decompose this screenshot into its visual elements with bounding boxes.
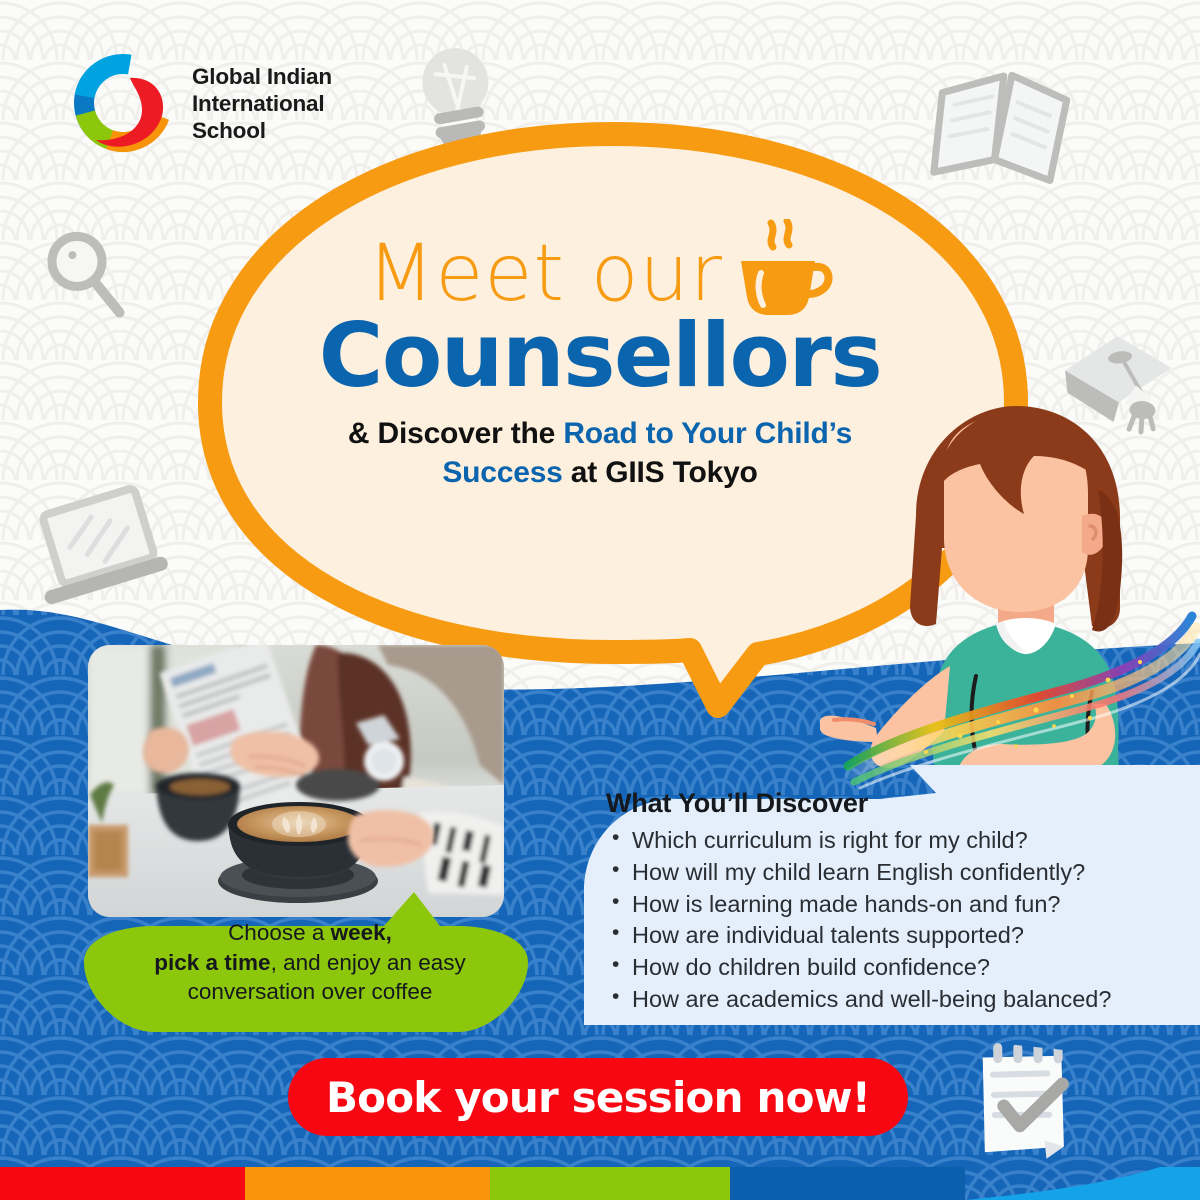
- brand-name-line2: International: [192, 90, 332, 117]
- list-item: How do children build confidence?: [606, 952, 1186, 984]
- discover-list: Which curriculum is right for my child? …: [606, 825, 1186, 1016]
- subhead-part1: & Discover the: [348, 417, 563, 450]
- footer-segment-orange: [245, 1167, 490, 1200]
- list-item: How are individual talents supported?: [606, 920, 1186, 952]
- green-text-3: conversation over coffee: [188, 979, 433, 1004]
- subhead-highlight1: Road to Your Child’s: [563, 417, 852, 450]
- green-callout-text: Choose a week, pick a time, and enjoy an…: [100, 918, 520, 1007]
- footer-segment-red: [0, 1167, 245, 1200]
- discover-content: What You’ll Discover Which curriculum is…: [606, 788, 1186, 1016]
- brand-name-line1: Global Indian: [192, 63, 332, 90]
- giis-swirl-logo-icon: [68, 48, 178, 158]
- green-text-1: Choose a: [228, 920, 331, 945]
- book-session-label: Book your session now!: [326, 1073, 870, 1122]
- green-bold-2: pick a time: [154, 950, 270, 975]
- subhead-highlight2: Success: [442, 456, 562, 489]
- discover-title: What You’ll Discover: [606, 788, 1186, 819]
- book-session-button[interactable]: Book your session now!: [288, 1058, 908, 1136]
- footer-segment-green: [490, 1167, 730, 1200]
- subhead-part2: at GIIS Tokyo: [563, 456, 758, 489]
- coffee-conversation-photo: [88, 645, 504, 917]
- list-item: How is learning made hands-on and fun?: [606, 889, 1186, 921]
- list-item: How are academics and well-being balance…: [606, 984, 1186, 1016]
- footer-segment-blue: [730, 1167, 965, 1200]
- list-item: Which curriculum is right for my child?: [606, 825, 1186, 857]
- poster-canvas: Global Indian International School Meet …: [0, 0, 1200, 1200]
- green-text-2: , and enjoy an easy: [271, 950, 466, 975]
- hero-line1: Meet our: [367, 235, 723, 313]
- hero-line2: Counsellors: [250, 313, 950, 399]
- magnifying-glass-icon: [37, 227, 133, 325]
- notepad-check-icon: [962, 1041, 1084, 1170]
- rainbow-light-swoosh: [840, 560, 1200, 800]
- footer-segment-lightblue: [965, 1167, 1200, 1200]
- list-item: How will my child learn English confiden…: [606, 857, 1186, 889]
- footer-color-bar: [0, 1163, 1200, 1200]
- green-bold-1: week,: [331, 920, 392, 945]
